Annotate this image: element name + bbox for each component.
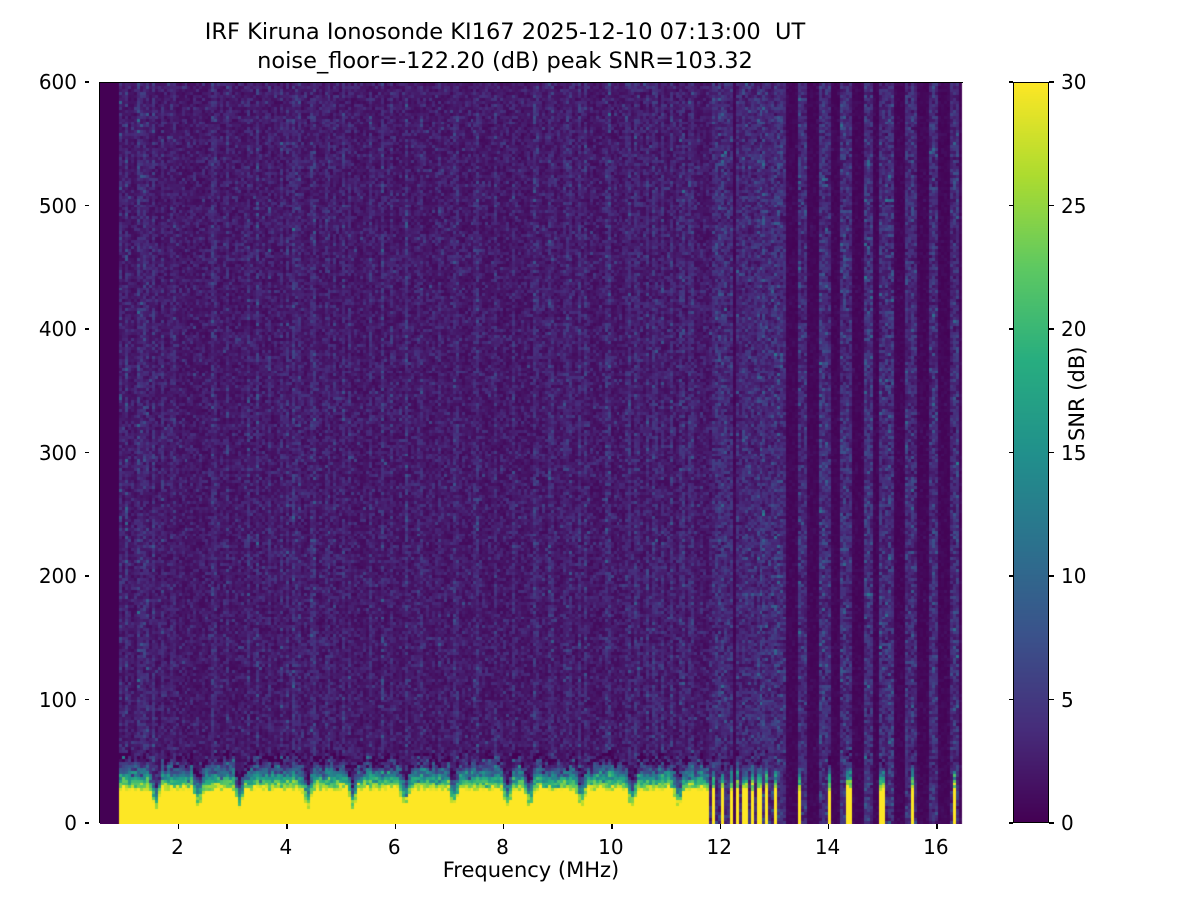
y-tick-label: 400 xyxy=(39,317,77,341)
y-tick-mark xyxy=(85,81,90,82)
x-tick-label: 16 xyxy=(923,835,948,859)
y-tick-mark xyxy=(85,452,90,453)
colorbar-tick-mark xyxy=(1009,452,1014,453)
colorbar-tick-label: 0 xyxy=(1061,811,1074,835)
x-tick-label: 4 xyxy=(280,835,293,859)
y-tick-mark xyxy=(85,205,90,206)
x-tick-mark xyxy=(286,824,287,829)
x-tick-label: 6 xyxy=(388,835,401,859)
y-tick-label: 0 xyxy=(64,811,77,835)
colorbar-tick-mark xyxy=(1009,575,1014,576)
y-tick-label: 500 xyxy=(39,194,77,218)
title-line-1: IRF Kiruna Ionosonde KI167 2025-12-10 07… xyxy=(0,18,1010,47)
colorbar-tick-label: 30 xyxy=(1061,70,1086,94)
y-tick-label: 600 xyxy=(39,70,77,94)
y-tick-mark xyxy=(85,822,90,823)
colorbar-title-wrap: SNR (dB) xyxy=(1098,82,1126,823)
colorbar-tick-label: 10 xyxy=(1061,564,1086,588)
x-tick-mark xyxy=(395,824,396,829)
ionogram-figure: IRF Kiruna Ionosonde KI167 2025-12-10 07… xyxy=(0,0,1200,900)
x-axis-title: Frequency (MHz) xyxy=(99,858,963,882)
colorbar-tick-mark xyxy=(1009,328,1014,329)
ionogram-heatmap xyxy=(100,83,964,824)
x-tick-label: 2 xyxy=(171,835,184,859)
x-tick-mark xyxy=(936,824,937,829)
colorbar-tick-label: 15 xyxy=(1061,441,1086,465)
title-line-2: noise_floor=-122.20 (dB) peak SNR=103.32 xyxy=(0,47,1010,76)
x-tick-mark xyxy=(828,824,829,829)
x-tick-label: 12 xyxy=(707,835,732,859)
x-tick-label: 8 xyxy=(496,835,509,859)
y-axis-title-wrap: Virtual range (km) xyxy=(12,82,40,823)
colorbar-tick-mark xyxy=(1009,205,1014,206)
colorbar-tick-label: 20 xyxy=(1061,317,1086,341)
colorbar-ticks xyxy=(1013,82,1049,823)
x-tick-label: 14 xyxy=(815,835,840,859)
figure-title: IRF Kiruna Ionosonde KI167 2025-12-10 07… xyxy=(0,18,1010,77)
colorbar-tick-label: 5 xyxy=(1061,688,1074,712)
y-tick-label: 100 xyxy=(39,688,77,712)
colorbar-tick-mark xyxy=(1009,81,1014,82)
x-tick-label: 10 xyxy=(598,835,623,859)
x-tick-mark xyxy=(611,824,612,829)
x-tick-mark xyxy=(720,824,721,829)
y-tick-mark xyxy=(85,328,90,329)
colorbar-tick-mark xyxy=(1009,822,1014,823)
x-tick-mark xyxy=(178,824,179,829)
x-axis-tick-labels: 246810121416 xyxy=(99,831,963,861)
colorbar-tick-label: 25 xyxy=(1061,194,1086,218)
y-tick-label: 200 xyxy=(39,564,77,588)
y-tick-label: 300 xyxy=(39,441,77,465)
colorbar-title: SNR (dB) xyxy=(1065,346,1089,440)
colorbar-tick-mark xyxy=(1009,699,1014,700)
y-tick-mark xyxy=(85,575,90,576)
x-tick-mark xyxy=(503,824,504,829)
plot-axes xyxy=(99,82,963,823)
y-tick-mark xyxy=(85,699,90,700)
